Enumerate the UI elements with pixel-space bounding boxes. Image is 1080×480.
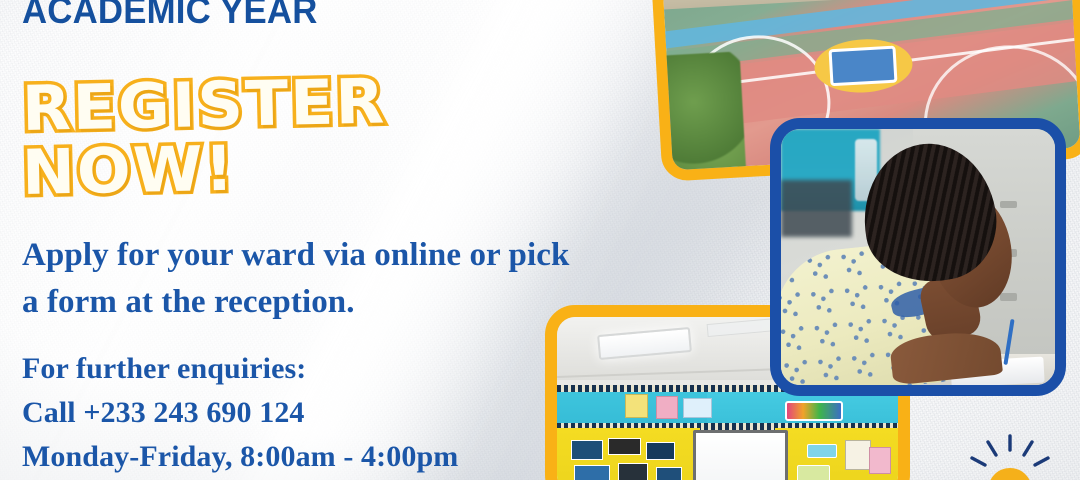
student-background-person [781, 180, 852, 236]
classroom-banner [785, 401, 844, 421]
classroom-pinned-card-5 [618, 463, 647, 480]
classroom-poster-pink [656, 396, 678, 419]
enquiries-label: For further enquiries: [22, 347, 602, 391]
student-cabinet-handle-3 [1000, 293, 1016, 301]
playground-shrub [660, 51, 747, 170]
enquiries-block: For further enquiries: Call +233 243 690… [22, 347, 602, 478]
classroom-pinned-card-4 [574, 465, 610, 480]
enquiries-phone: Call +233 243 690 124 [22, 391, 602, 435]
headline-now: NOW! [21, 132, 236, 209]
classroom-poster-yellow [625, 394, 647, 417]
classroom-pinned-card-6 [656, 467, 682, 480]
classroom-pinned-card-8 [869, 447, 891, 474]
kicker-academic-year: ACADEMIC YEAR [22, 0, 318, 32]
classroom-poster-blue [683, 398, 712, 418]
photo-student-image [781, 129, 1055, 385]
copy-block: ACADEMIC YEAR REGISTER NOW! Apply for yo… [0, 0, 640, 480]
enquiries-hours: Monday-Friday, 8:00am - 4:00pm [22, 435, 602, 479]
classroom-pinned-card-1 [571, 440, 604, 460]
classroom-pinned-card-3 [646, 442, 675, 460]
classroom-pinned-card-7 [807, 444, 836, 458]
photo-student-writing [770, 118, 1066, 396]
classroom-pinned-card-2 [608, 438, 641, 454]
classroom-pinned-card-9 [797, 465, 830, 480]
poster-canvas: ACADEMIC YEAR REGISTER NOW! Apply for yo… [0, 0, 1080, 480]
classroom-whiteboard [693, 430, 788, 480]
classroom-pinned-chart [845, 440, 871, 470]
lede-paragraph: Apply for your ward via online or pick a… [22, 232, 582, 326]
student-cabinet-handle-1 [1000, 201, 1016, 209]
